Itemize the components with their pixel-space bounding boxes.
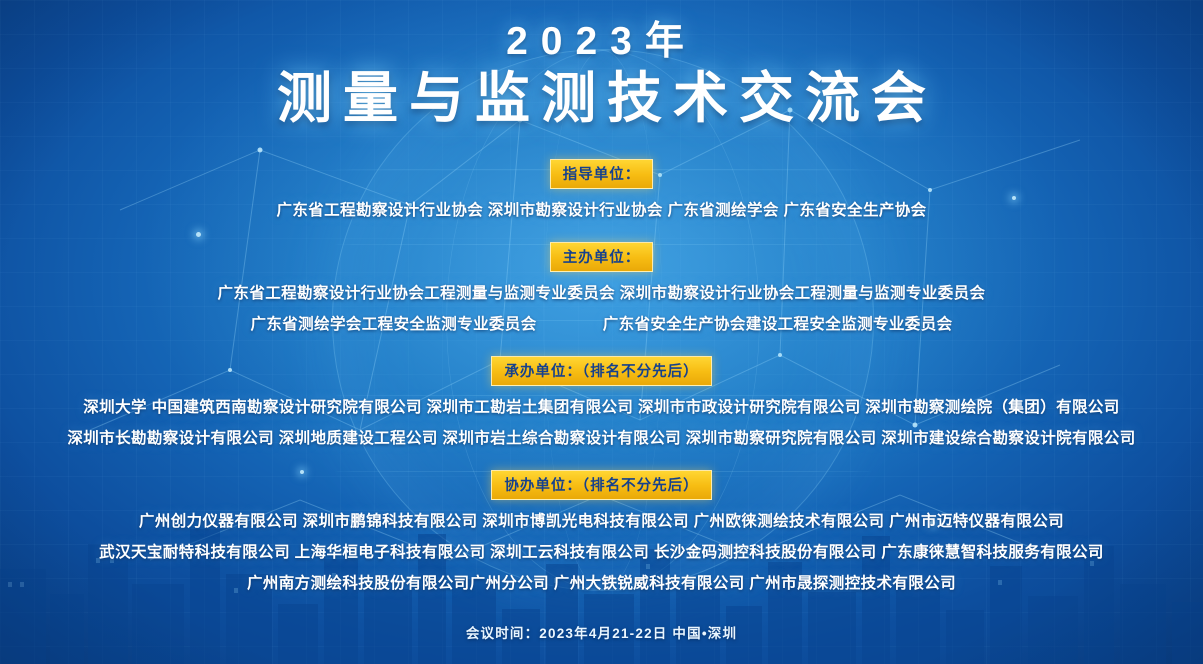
poster-title-year: 2023年 [0, 0, 1203, 63]
org-line: 武汉天宝耐特科技有限公司 上海华桓电子科技有限公司 深圳工云科技有限公司 长沙金… [0, 540, 1203, 562]
section-organizer: 承办单位：（排名不分先后） 深圳大学 中国建筑西南勘察设计研究院有限公司 深圳市… [0, 356, 1203, 448]
poster-title-main: 测量与监测技术交流会 [0, 67, 1203, 131]
org-line: 深圳市长勘勘察设计有限公司 深圳地质建设工程公司 深圳市岩土综合勘察设计有限公司… [0, 426, 1203, 448]
org-entry: 广东省测绘学会工程安全监测专业委员会 [250, 312, 536, 334]
section-cooperation: 协办单位：（排名不分先后） 广州创力仪器有限公司 深圳市鹏锦科技有限公司 深圳市… [0, 470, 1203, 593]
org-line: 广东省工程勘察设计行业协会工程测量与监测专业委员会 深圳市勘察设计行业协会工程测… [0, 281, 1203, 303]
badge-host: 主办单位： [550, 242, 654, 272]
org-line: 广东省工程勘察设计行业协会 深圳市勘察设计行业协会 广东省测绘学会 广东省安全生… [0, 198, 1203, 220]
conference-datetime-location: 会议时间：2023年4月21-22日 中国•深圳 [0, 622, 1203, 642]
badge-cooperation: 协办单位：（排名不分先后） [491, 470, 711, 500]
org-line: 广州创力仪器有限公司 深圳市鹏锦科技有限公司 深圳市博凯光电科技有限公司 广州欧… [0, 509, 1203, 531]
badge-guidance: 指导单位： [550, 159, 654, 189]
section-guidance: 指导单位： 广东省工程勘察设计行业协会 深圳市勘察设计行业协会 广东省测绘学会 … [0, 159, 1203, 220]
org-line: 广州南方测绘科技股份有限公司广州分公司 广州大铁锐威科技有限公司 广州市晟探测控… [0, 571, 1203, 593]
section-host: 主办单位： 广东省工程勘察设计行业协会工程测量与监测专业委员会 深圳市勘察设计行… [0, 242, 1203, 334]
conference-poster: 2023年 测量与监测技术交流会 指导单位： 广东省工程勘察设计行业协会 深圳市… [0, 0, 1203, 664]
org-entry: 广东省安全生产协会建设工程安全监测专业委员会 [603, 312, 953, 334]
org-line: 广东省测绘学会工程安全监测专业委员会 广东省安全生产协会建设工程安全监测专业委员… [0, 312, 1203, 334]
org-line: 深圳大学 中国建筑西南勘察设计研究院有限公司 深圳市工勘岩土集团有限公司 深圳市… [0, 395, 1203, 417]
badge-organizer: 承办单位：（排名不分先后） [491, 356, 711, 386]
